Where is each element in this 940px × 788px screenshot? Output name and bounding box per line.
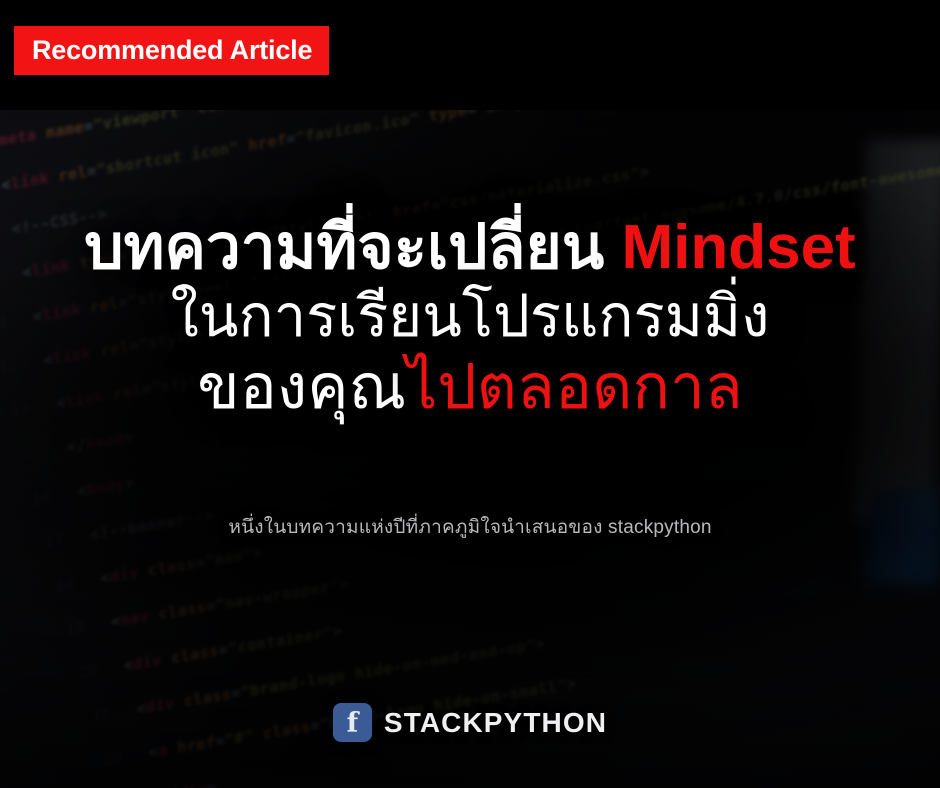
code-token: class xyxy=(158,598,207,624)
code-token: link xyxy=(10,168,49,193)
code-token: meta xyxy=(0,125,37,150)
code-token: "nav" xyxy=(205,545,254,571)
code-token: rel xyxy=(58,162,88,185)
code-token: > xyxy=(535,634,546,654)
top-black-bar: Recommended Article xyxy=(0,0,940,110)
background-photo: <!--meta--><title></title><meta name="vi… xyxy=(0,110,940,788)
code-token: > xyxy=(207,778,218,788)
code-token: > xyxy=(332,621,343,641)
code-line-number: 18 xyxy=(52,573,75,595)
code-token: "viewport" xyxy=(93,110,189,134)
headline-line-2-text: ในการเรียนโปรแกรมมิ่ง xyxy=(171,284,770,349)
code-line-number: 16 xyxy=(29,486,52,508)
code-token xyxy=(188,110,199,119)
code-line-number: 15 xyxy=(18,443,41,465)
code-line: 16<body> xyxy=(29,473,135,508)
code-token: div xyxy=(133,650,163,673)
code-token: "image/x-icon" xyxy=(476,110,610,118)
code-token: "shortcut icon" xyxy=(96,138,239,180)
headline-line-3: ของคุณไปตลอดกาล xyxy=(0,356,940,419)
code-token: "css/materialize.css" xyxy=(440,164,640,215)
headline-line-1: บทความที่จะเปลี่ยน Mindset xyxy=(0,216,940,279)
code-token: content xyxy=(197,110,265,117)
code-line-number: 19 xyxy=(62,617,85,639)
code-token: </ xyxy=(159,784,179,788)
brand-name: STACKPYTHON xyxy=(384,707,607,739)
code-token: class xyxy=(171,641,220,667)
code-token: nav xyxy=(120,607,150,630)
subtitle: หนึ่งในบทความแห่งปีที่ภาคภูมิใจนำเสนอของ… xyxy=(0,512,940,542)
headline-line-1-white: บทความที่จะเปลี่ยน xyxy=(84,213,621,282)
code-token: name xyxy=(45,117,84,142)
code-token: > xyxy=(124,473,135,493)
code-token: div xyxy=(110,563,140,586)
code-line: 15</head> xyxy=(18,428,134,465)
code-token: > xyxy=(639,162,650,182)
facebook-f-glyph: f xyxy=(333,709,372,736)
recommended-article-badge: Recommended Article xyxy=(14,26,329,75)
code-token: > xyxy=(566,674,577,694)
headline: บทความที่จะเปลี่ยน Mindset ในการเรียนโปร… xyxy=(0,216,940,426)
code-token: div xyxy=(178,779,208,788)
code-token: class xyxy=(148,554,197,580)
facebook-icon[interactable]: f xyxy=(333,703,372,742)
code-token: "favicon.ico" xyxy=(295,110,419,147)
code-token: = xyxy=(466,110,477,119)
headline-line-3-red: ไปตลอดกาล xyxy=(406,353,743,422)
code-line-number: 20 xyxy=(75,661,98,683)
code-text-plane: <!--meta--><title></title><meta name="vi… xyxy=(0,110,940,788)
headline-line-1-red: Mindset xyxy=(621,213,855,282)
code-line: 23</div> xyxy=(111,778,217,788)
badge-label: Recommended Article xyxy=(32,37,312,64)
code-token: type xyxy=(428,110,467,125)
headline-line-2: ในการเรียนโปรแกรมมิ่ง xyxy=(0,287,940,346)
headline-line-3-white: ของคุณ xyxy=(197,353,406,422)
code-token: > xyxy=(252,543,263,563)
code-token: > xyxy=(123,428,134,448)
code-token: head xyxy=(85,429,124,454)
code-token: href xyxy=(248,130,287,155)
code-line-number: 22 xyxy=(100,748,123,770)
code-token: "nav-wrapper" xyxy=(215,576,339,614)
code-token: </ xyxy=(66,435,86,457)
code-line: 18<div class="nav"> xyxy=(52,543,263,595)
code-token: body xyxy=(86,474,125,499)
code-token: "container" xyxy=(228,623,333,658)
poster-canvas: <!--meta--><title></title><meta name="vi… xyxy=(0,0,940,788)
footer-brand: f STACKPYTHON xyxy=(0,703,940,742)
code-token: > xyxy=(339,575,350,595)
